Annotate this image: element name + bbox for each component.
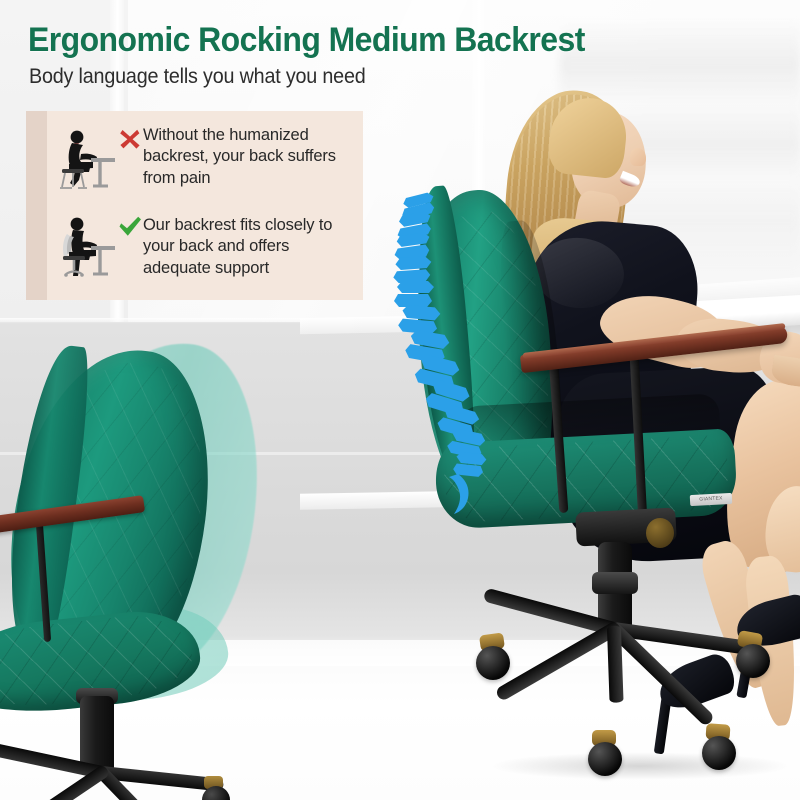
nose bbox=[630, 148, 646, 166]
panel-body: Without the humanized backrest, your bac… bbox=[47, 111, 363, 300]
benefits-panel: Without the humanized backrest, your bac… bbox=[26, 111, 363, 300]
vertebra-group bbox=[392, 191, 487, 477]
page-subtitle: Body language tells you what you need bbox=[29, 65, 366, 89]
five-star-base bbox=[460, 612, 790, 752]
page-title: Ergonomic Rocking Medium Backrest bbox=[28, 21, 585, 60]
spine-overlay bbox=[388, 186, 538, 516]
tension-knob bbox=[646, 518, 674, 548]
benefit-text-positive: Our backrest fits closely to your back a… bbox=[143, 212, 355, 279]
base-spoke bbox=[607, 625, 624, 702]
rocking-chair-motion-demo bbox=[0, 330, 360, 800]
person-slouching-at-desk-icon bbox=[55, 124, 117, 198]
person-upright-in-chair-at-desk-icon bbox=[55, 212, 117, 286]
five-star-base bbox=[0, 758, 246, 800]
brand-tag: GIANTEX bbox=[690, 493, 733, 506]
caster-wheel bbox=[702, 736, 736, 770]
panel-left-strip bbox=[26, 111, 47, 300]
caster-wheel bbox=[476, 646, 510, 680]
gas-lift-collar bbox=[592, 572, 638, 594]
chair-floor-shadow bbox=[490, 752, 790, 780]
product-marketing-image: GIANTEX bbox=[0, 0, 800, 800]
benefit-row-positive: Our backrest fits closely to your back a… bbox=[55, 212, 355, 286]
check-icon bbox=[117, 212, 143, 238]
base-spoke bbox=[494, 620, 622, 702]
benefit-text-negative: Without the humanized backrest, your bac… bbox=[143, 124, 355, 189]
caster-wheel bbox=[736, 644, 770, 678]
caster-wheel bbox=[588, 742, 622, 776]
sacrum-tail bbox=[449, 474, 469, 514]
cross-icon bbox=[117, 124, 143, 150]
benefit-row-negative: Without the humanized backrest, your bac… bbox=[55, 124, 355, 198]
